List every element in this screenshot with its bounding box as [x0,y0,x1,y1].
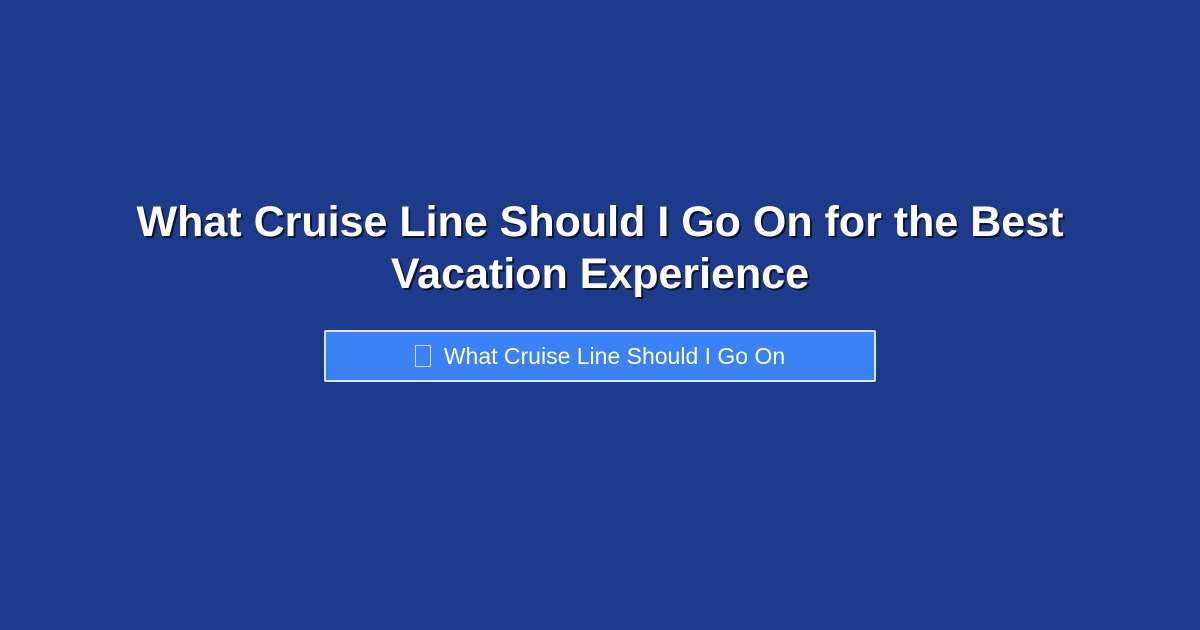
cruise-line-cta-button[interactable]: What Cruise Line Should I Go On [324,330,876,382]
missing-glyph-box-icon [415,345,431,367]
cta-button-label: What Cruise Line Should I Go On [444,345,785,368]
cta-container: What Cruise Line Should I Go On [70,330,1130,382]
page-canvas: What Cruise Line Should I Go On for the … [0,0,1200,630]
hero-section: What Cruise Line Should I Go On for the … [70,196,1130,382]
page-title: What Cruise Line Should I Go On for the … [100,196,1100,300]
